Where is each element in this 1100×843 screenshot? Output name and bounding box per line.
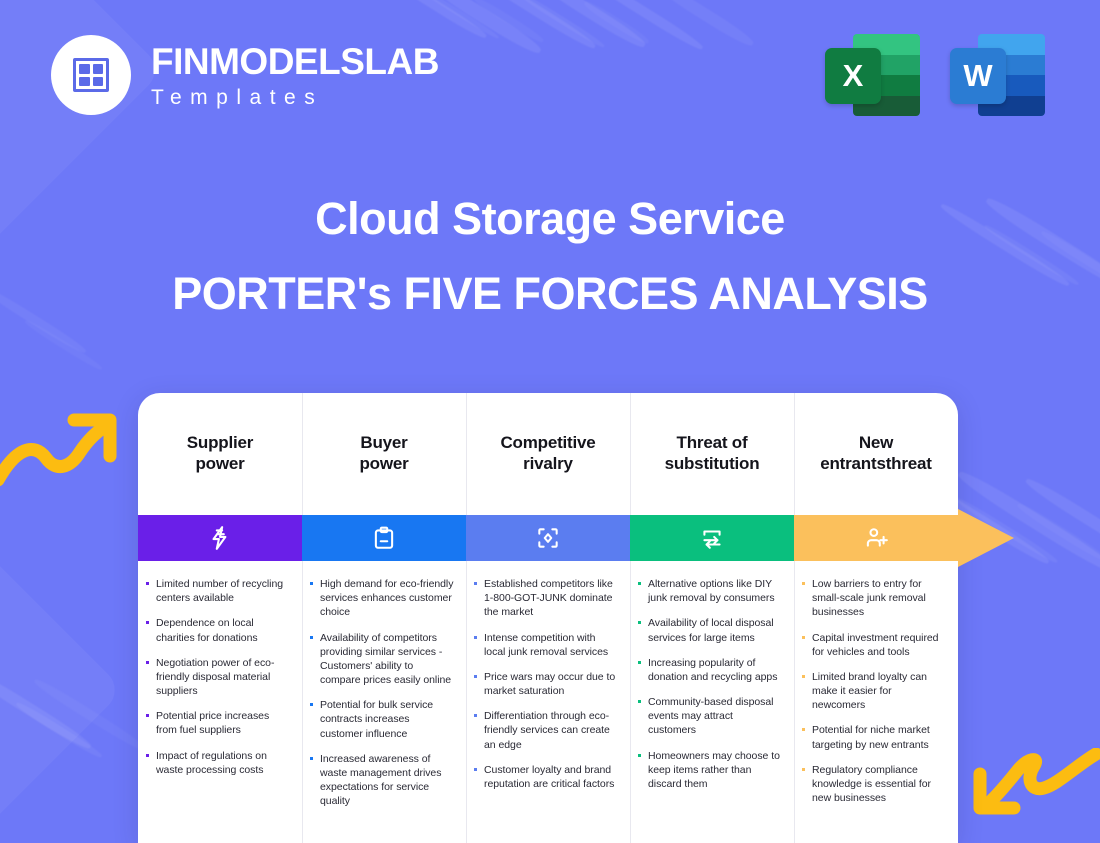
list-item: Availability of local disposal services … <box>638 616 782 644</box>
squiggle-arrow-up-right-icon <box>0 404 122 495</box>
bullet-dot-icon <box>146 661 149 664</box>
page-subtitle: PORTER's FIVE FORCES ANALYSIS <box>0 271 1100 316</box>
excel-icon[interactable]: X <box>825 27 920 122</box>
list-item: Differentiation through eco-friendly ser… <box>474 709 618 752</box>
bullet-dot-icon <box>474 636 477 639</box>
list-item: Potential for niche market targeting by … <box>802 723 946 751</box>
bullet-dot-icon <box>310 703 313 706</box>
list-item: Potential for bulk service contracts inc… <box>310 698 454 741</box>
list-item: Capital investment required for vehicles… <box>802 631 946 659</box>
page-title: Cloud Storage Service <box>0 196 1100 241</box>
force-column-title: Supplierpower <box>187 433 253 474</box>
list-item: Customer loyalty and brand reputation ar… <box>474 763 618 791</box>
force-column-title: Competitiverivalry <box>500 433 595 474</box>
excel-icon-letter: X <box>825 48 881 104</box>
bullet-text: Price wars may occur due to market satur… <box>484 670 618 698</box>
bullet-text: Low barriers to entry for small-scale ju… <box>812 577 946 620</box>
bullet-dot-icon <box>802 768 805 771</box>
bullet-dot-icon <box>802 582 805 585</box>
bullet-text: Alternative options like DIY junk remova… <box>648 577 782 605</box>
force-column-3: CompetitiverivalryEstablished competitor… <box>466 393 630 843</box>
list-item: Impact of regulations on waste processin… <box>146 749 290 777</box>
squiggle-arrow-down-left-icon <box>962 748 1100 843</box>
bullet-text: Impact of regulations on waste processin… <box>156 749 290 777</box>
bullet-dot-icon <box>146 621 149 624</box>
force-title-line-2: rivalry <box>500 454 595 475</box>
arrow-head-icon <box>958 509 1014 567</box>
bullet-text: Homeowners may choose to keep items rath… <box>648 749 782 792</box>
force-bullet-list: High demand for eco-friendly services en… <box>302 561 466 843</box>
exchange-arrows-icon <box>699 525 725 551</box>
brand-subtitle: Templates <box>151 87 439 108</box>
force-column-title: Threat ofsubstitution <box>665 433 760 474</box>
bullet-dot-icon <box>474 768 477 771</box>
bullet-text: Potential for bulk service contracts inc… <box>320 698 454 741</box>
bullet-dot-icon <box>802 675 805 678</box>
bullet-dot-icon <box>474 714 477 717</box>
list-item: Community-based disposal events may attr… <box>638 695 782 738</box>
list-item: Low barriers to entry for small-scale ju… <box>802 577 946 620</box>
force-color-band <box>630 515 794 561</box>
format-icons: X W <box>825 27 1045 122</box>
bullet-dot-icon <box>310 757 313 760</box>
force-bullet-list: Established competitors like 1-800-GOT-J… <box>466 561 630 843</box>
force-title-line-1: Buyer <box>359 433 408 454</box>
bullet-dot-icon <box>474 582 477 585</box>
list-item: Limited number of recycling centers avai… <box>146 577 290 605</box>
force-column-title: Newentrantsthreat <box>820 433 932 474</box>
force-title-line-2: power <box>187 454 253 475</box>
list-item: Dependence on local charities for donati… <box>146 616 290 644</box>
bullet-dot-icon <box>310 636 313 639</box>
brand-logo[interactable]: FINMODELSLAB Templates <box>51 35 439 115</box>
force-column-header: Threat ofsubstitution <box>630 393 794 515</box>
page-header: FINMODELSLAB Templates X W <box>0 0 1100 150</box>
list-item: Price wars may occur due to market satur… <box>474 670 618 698</box>
bullet-dot-icon <box>474 675 477 678</box>
force-bullet-list: Low barriers to entry for small-scale ju… <box>794 561 958 843</box>
add-person-icon <box>863 525 889 551</box>
bullet-dot-icon <box>802 636 805 639</box>
grid-logo-icon <box>51 35 131 115</box>
brand-name: FINMODELSLAB <box>151 43 439 80</box>
list-item: Increased awareness of waste management … <box>310 752 454 809</box>
bullet-text: Capital investment required for vehicles… <box>812 631 946 659</box>
bullet-dot-icon <box>310 582 313 585</box>
force-column-4: Threat ofsubstitutionAlternative options… <box>630 393 794 843</box>
title-block: Cloud Storage Service PORTER's FIVE FORC… <box>0 196 1100 316</box>
focus-target-icon <box>535 525 561 551</box>
word-icon-letter: W <box>950 48 1006 104</box>
force-column-title: Buyerpower <box>359 433 408 474</box>
list-item: Homeowners may choose to keep items rath… <box>638 749 782 792</box>
list-item: Regulatory compliance knowledge is essen… <box>802 763 946 806</box>
force-title-line-1: Competitive <box>500 433 595 454</box>
forces-matrix-card: SupplierpowerLimited number of recycling… <box>138 393 958 843</box>
list-item: Negotiation power of eco-friendly dispos… <box>146 656 290 699</box>
forces-matrix: SupplierpowerLimited number of recycling… <box>138 393 958 843</box>
bullet-dot-icon <box>146 754 149 757</box>
force-column-2: BuyerpowerHigh demand for eco-friendly s… <box>302 393 466 843</box>
bullet-dot-icon <box>638 754 641 757</box>
bullet-text: Availability of local disposal services … <box>648 616 782 644</box>
force-color-band <box>466 515 630 561</box>
bullet-text: Dependence on local charities for donati… <box>156 616 290 644</box>
force-color-band <box>302 515 466 561</box>
bullet-text: Increasing popularity of donation and re… <box>648 656 782 684</box>
force-column-header: Buyerpower <box>302 393 466 515</box>
force-color-band <box>794 515 958 561</box>
force-color-band <box>138 515 302 561</box>
word-icon[interactable]: W <box>950 27 1045 122</box>
force-title-line-1: Threat of <box>665 433 760 454</box>
clipboard-icon <box>371 525 397 551</box>
bullet-text: Limited number of recycling centers avai… <box>156 577 290 605</box>
force-title-line-2: entrantsthreat <box>820 454 932 475</box>
list-item: Availability of competitors providing si… <box>310 631 454 688</box>
bullet-text: Availability of competitors providing si… <box>320 631 454 688</box>
list-item: Alternative options like DIY junk remova… <box>638 577 782 605</box>
force-column-header: Newentrantsthreat <box>794 393 958 515</box>
bullet-text: Regulatory compliance knowledge is essen… <box>812 763 946 806</box>
force-column-header: Competitiverivalry <box>466 393 630 515</box>
force-title-line-1: Supplier <box>187 433 253 454</box>
bullet-dot-icon <box>146 714 149 717</box>
bullet-text: Increased awareness of waste management … <box>320 752 454 809</box>
bullet-dot-icon <box>638 582 641 585</box>
force-column-1: SupplierpowerLimited number of recycling… <box>138 393 302 843</box>
bullet-text: Established competitors like 1-800-GOT-J… <box>484 577 618 620</box>
bullet-text: Customer loyalty and brand reputation ar… <box>484 763 618 791</box>
force-column-5: NewentrantsthreatLow barriers to entry f… <box>794 393 958 843</box>
list-item: Established competitors like 1-800-GOT-J… <box>474 577 618 620</box>
bullet-dot-icon <box>146 582 149 585</box>
list-item: Intense competition with local junk remo… <box>474 631 618 659</box>
bullet-text: Differentiation through eco-friendly ser… <box>484 709 618 752</box>
bullet-dot-icon <box>638 661 641 664</box>
list-item: High demand for eco-friendly services en… <box>310 577 454 620</box>
list-item: Potential price increases from fuel supp… <box>146 709 290 737</box>
bullet-text: Community-based disposal events may attr… <box>648 695 782 738</box>
bullet-text: High demand for eco-friendly services en… <box>320 577 454 620</box>
bullet-text: Intense competition with local junk remo… <box>484 631 618 659</box>
lightning-bolt-icon <box>207 525 233 551</box>
force-title-line-1: New <box>820 433 932 454</box>
force-title-line-2: substitution <box>665 454 760 475</box>
force-column-header: Supplierpower <box>138 393 302 515</box>
list-item: Limited brand loyalty can make it easier… <box>802 670 946 713</box>
bullet-text: Potential price increases from fuel supp… <box>156 709 290 737</box>
force-bullet-list: Alternative options like DIY junk remova… <box>630 561 794 843</box>
list-item: Increasing popularity of donation and re… <box>638 656 782 684</box>
bullet-text: Limited brand loyalty can make it easier… <box>812 670 946 713</box>
bullet-text: Potential for niche market targeting by … <box>812 723 946 751</box>
force-bullet-list: Limited number of recycling centers avai… <box>138 561 302 843</box>
force-title-line-2: power <box>359 454 408 475</box>
bullet-text: Negotiation power of eco-friendly dispos… <box>156 656 290 699</box>
bullet-dot-icon <box>638 700 641 703</box>
bullet-dot-icon <box>638 621 641 624</box>
bullet-dot-icon <box>802 728 805 731</box>
